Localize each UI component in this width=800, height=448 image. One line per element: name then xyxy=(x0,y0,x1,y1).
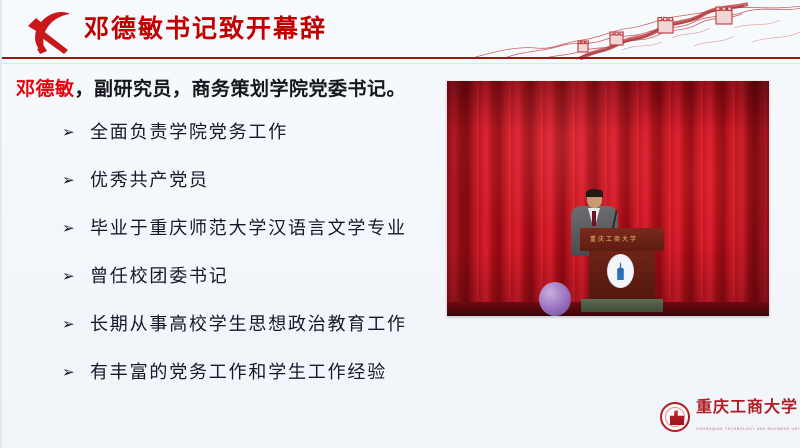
lead-paragraph: 邓德敏，副研究员，商务策划学院党委书记。 xyxy=(16,74,406,101)
cpc-hammer-sickle-emblem xyxy=(22,8,78,54)
university-name-en: CHONGQING TECHNOLOGY AND BUSINESS UNIVER… xyxy=(696,427,800,431)
podium-gold-text: 重庆工商大学 xyxy=(590,234,638,243)
university-seal-icon xyxy=(660,402,690,432)
university-logo: 重庆工商大学 CHONGQING TECHNOLOGY AND BUSINESS… xyxy=(660,399,800,435)
bullet-arrow-icon: ➢ xyxy=(62,123,90,141)
slide-header: 邓德敏书记致开幕辞 xyxy=(2,0,800,60)
emblem-building-glyph xyxy=(613,262,628,280)
list-item-label: 长期从事高校学生思想政治教育工作 xyxy=(90,310,407,336)
speaker-at-podium-photo: 重庆工商大学 xyxy=(447,81,769,316)
bullet-arrow-icon: ➢ xyxy=(62,363,90,381)
speaker-tie xyxy=(592,211,596,226)
purple-balloon xyxy=(539,282,571,316)
bullet-arrow-icon: ➢ xyxy=(62,219,90,237)
speaker-hair xyxy=(586,189,603,197)
list-item: ➢ 优秀共产党员 xyxy=(62,166,462,214)
list-item: ➢ 长期从事高校学生思想政治教育工作 xyxy=(62,310,462,358)
wooden-podium: 重庆工商大学 xyxy=(585,228,659,312)
list-item: ➢ 有丰富的党务工作和学生工作经验 xyxy=(62,358,462,406)
bullet-list: ➢ 全面负责学院党务工作 ➢ 优秀共产党员 ➢ 毕业于重庆师范大学汉语言文学专业… xyxy=(62,118,462,406)
person-name: 邓德敏 xyxy=(16,79,75,100)
presentation-slide: 邓德敏书记致开幕辞 xyxy=(0,0,800,448)
list-item-label: 优秀共产党员 xyxy=(90,166,209,192)
podium-base xyxy=(581,299,663,312)
header-divider-soft xyxy=(2,63,800,64)
list-item-label: 曾任校团委书记 xyxy=(90,262,229,288)
page-title: 邓德敏书记致开幕辞 xyxy=(84,12,327,46)
list-item: ➢ 毕业于重庆师范大学汉语言文学专业 xyxy=(62,214,462,262)
university-name-cn: 重庆工商大学 xyxy=(696,399,798,416)
bullet-arrow-icon: ➢ xyxy=(62,315,90,333)
bullet-arrow-icon: ➢ xyxy=(62,171,90,189)
list-item-label: 全面负责学院党务工作 xyxy=(90,118,288,144)
list-item: ➢ 全面负责学院党务工作 xyxy=(62,118,462,166)
bullet-arrow-icon: ➢ xyxy=(62,267,90,285)
list-item-label: 毕业于重庆师范大学汉语言文学专业 xyxy=(90,214,407,240)
list-item-label: 有丰富的党务工作和学生工作经验 xyxy=(90,358,387,384)
person-title-text: ，副研究员，商务策划学院党委书记。 xyxy=(75,79,407,100)
podium-top: 重庆工商大学 xyxy=(580,228,664,251)
header-divider-rule xyxy=(2,57,800,59)
university-emblem-on-podium xyxy=(607,254,634,288)
university-logo-text-block: 重庆工商大学 CHONGQING TECHNOLOGY AND BUSINESS… xyxy=(696,399,800,435)
list-item: ➢ 曾任校团委书记 xyxy=(62,262,462,310)
great-wall-illustration xyxy=(472,2,800,60)
